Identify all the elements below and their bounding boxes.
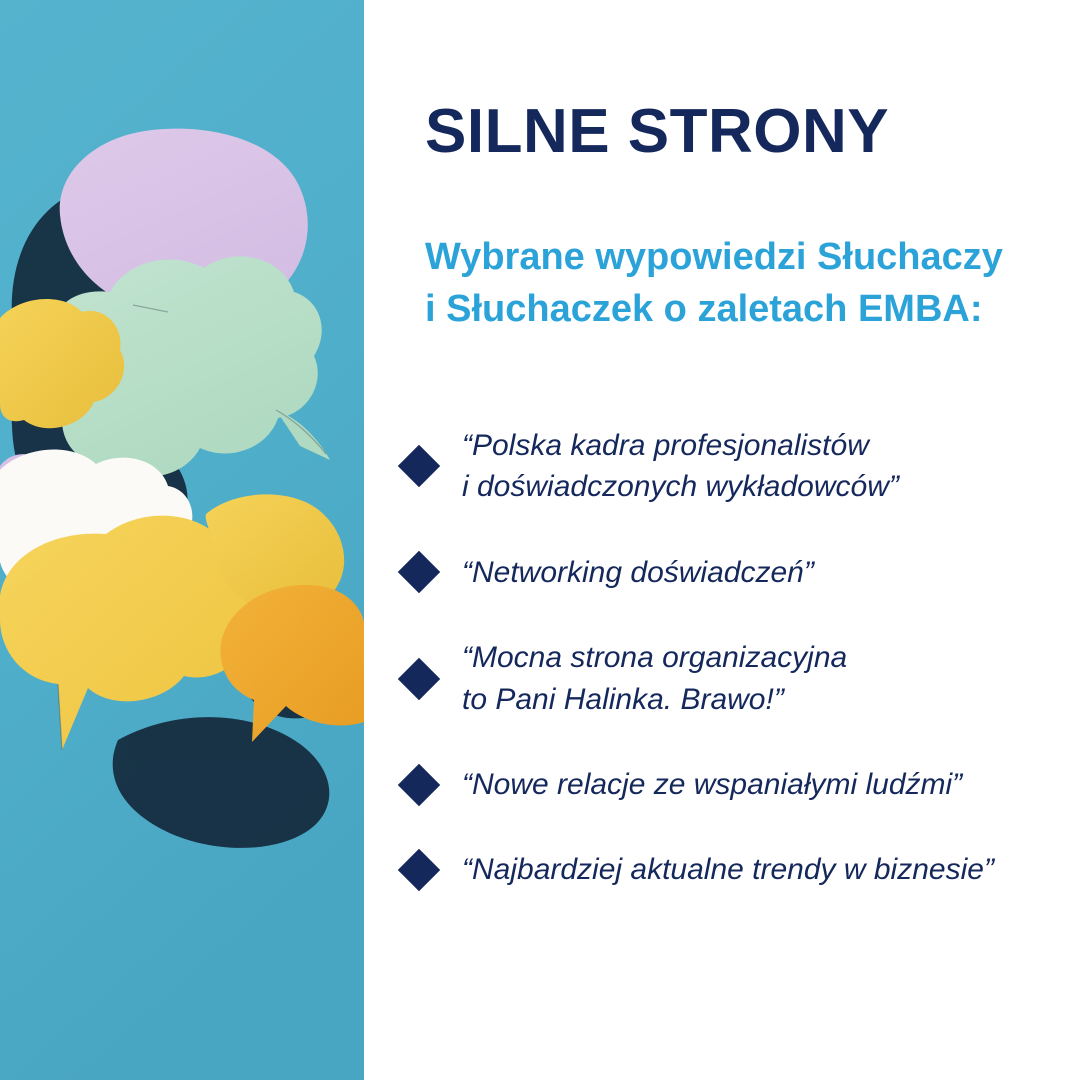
quote-text: “Networking doświadczeń” [462,552,1080,593]
diamond-bullet-icon [398,445,440,487]
subtitle-line-1: Wybrane wypowiedzi Słuchaczy [425,232,1003,284]
speech-bubbles-illustration [0,0,364,1080]
quote-list: “Polska kadra profesjonalistów i doświad… [404,425,1080,891]
diamond-bullet-icon [398,657,440,699]
quote-text: “Najbardziej aktualne trendy w biznesie” [462,849,1080,890]
quote-text: “Nowe relacje ze wspaniałymi ludźmi” [462,764,1080,805]
list-item: “Polska kadra profesjonalistów i doświad… [404,425,1080,508]
list-item: “Nowe relacje ze wspaniałymi ludźmi” [404,764,1080,805]
page-subtitle: Wybrane wypowiedzi Słuchaczy i Słuchacze… [425,232,1003,335]
content-panel: SILNE STRONY Wybrane wypowiedzi Słuchacz… [364,0,1080,1080]
speech-bubbles-photo-panel [0,0,364,1080]
diamond-bullet-icon [398,551,440,593]
diamond-bullet-icon [398,849,440,891]
diamond-bullet-icon [398,763,440,805]
slide-root: SILNE STRONY Wybrane wypowiedzi Słuchacz… [0,0,1080,1080]
list-item: “Najbardziej aktualne trendy w biznesie” [404,849,1080,890]
subtitle-line-2: i Słuchaczek o zaletach EMBA: [425,284,1003,336]
quote-text: “Mocna strona organizacyjna to Pani Hali… [462,637,1080,720]
page-title: SILNE STRONY [425,101,889,163]
quote-text: “Polska kadra profesjonalistów i doświad… [462,425,1080,508]
list-item: “Mocna strona organizacyjna to Pani Hali… [404,637,1080,720]
list-item: “Networking doświadczeń” [404,552,1080,593]
